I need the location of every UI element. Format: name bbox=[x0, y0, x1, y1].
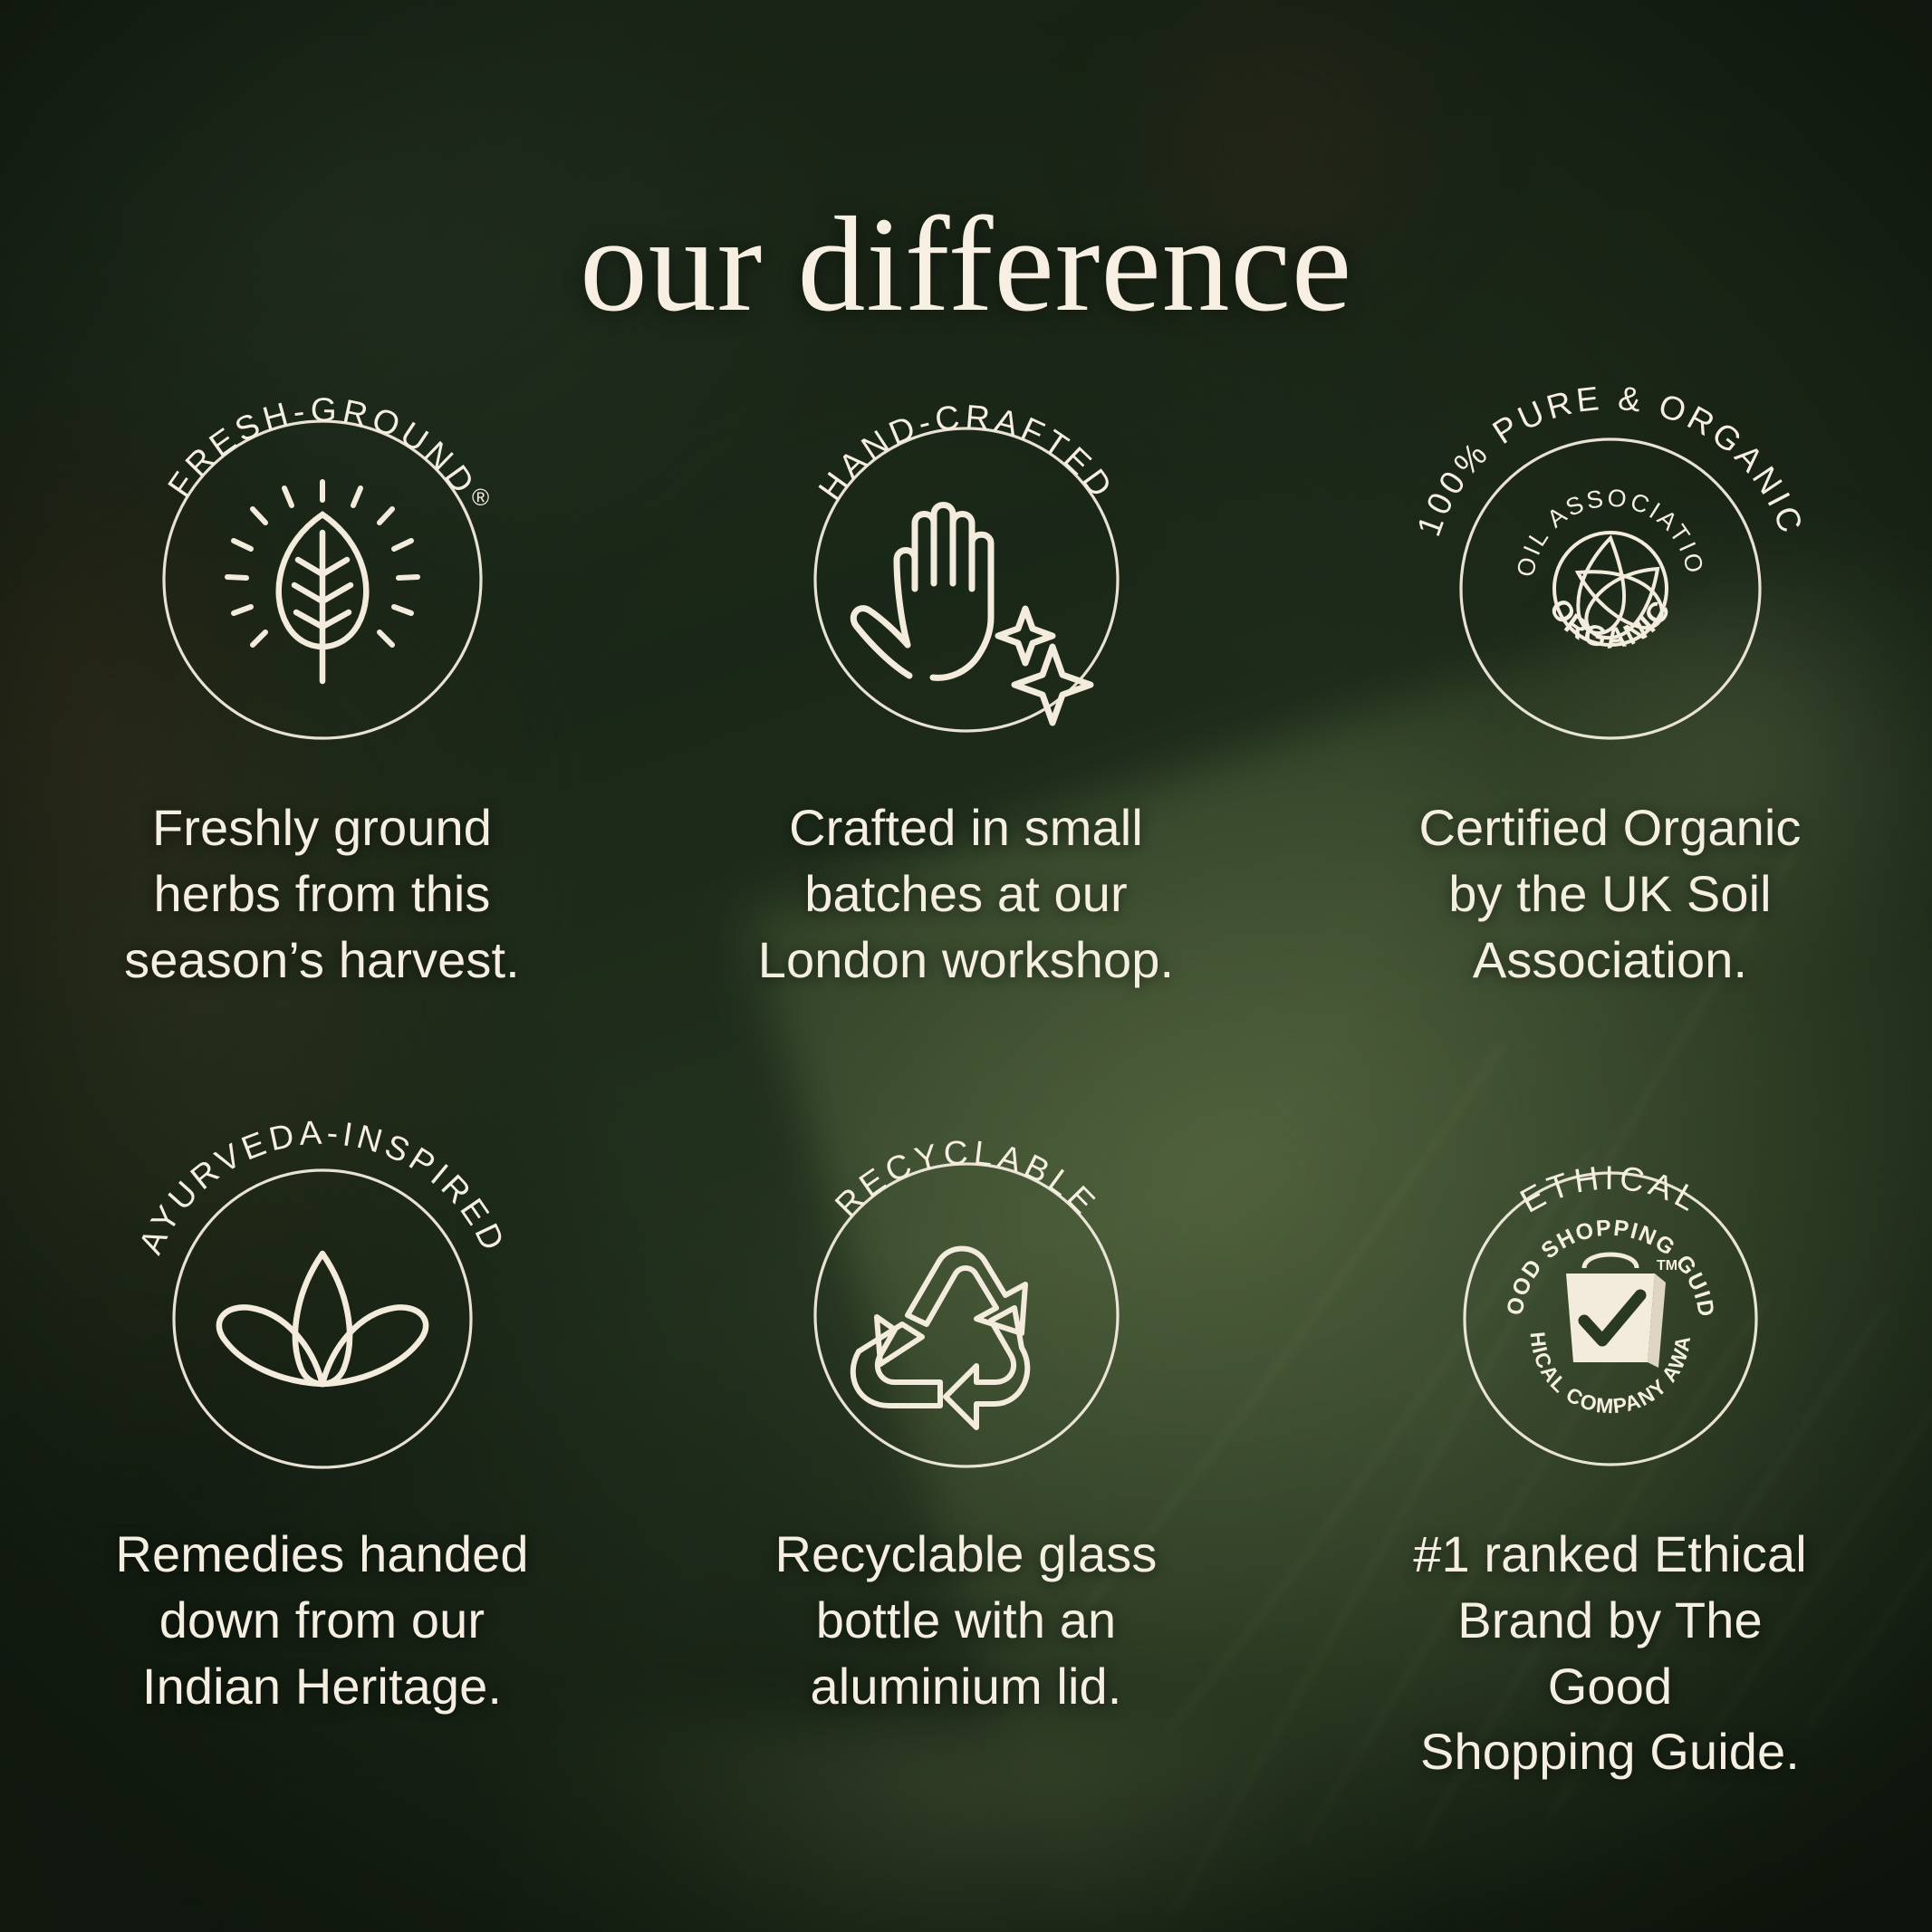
badge-recyclable: RECYCLABLE bbox=[754, 1078, 1179, 1495]
caption-line: Certified Organic bbox=[1398, 795, 1823, 861]
feature-row-top: FRESH-GROUND ® bbox=[0, 346, 1932, 993]
caption-line: Brand by The Good bbox=[1398, 1588, 1823, 1720]
caption-line: season’s harvest. bbox=[110, 928, 535, 994]
lotus-icon bbox=[218, 1254, 425, 1384]
badge-ethical: ETHICAL GOOD SHOPPING GUIDE ETHICAL COMP… bbox=[1398, 1078, 1823, 1495]
caption-line: batches at our bbox=[754, 861, 1179, 928]
registered-trademark-icon: ® bbox=[472, 484, 489, 511]
caption-line: bottle with an bbox=[754, 1588, 1179, 1654]
feature-fresh-ground: FRESH-GROUND ® bbox=[0, 346, 644, 993]
open-hand-sparkle-icon bbox=[853, 505, 1091, 724]
caption-line: #1 ranked Ethical bbox=[1398, 1522, 1823, 1588]
good-shopping-guide-icon: GOOD SHOPPING GUIDE ETHICAL COMPANY AWAR… bbox=[1388, 1058, 1719, 1418]
badge-ring bbox=[1461, 439, 1760, 738]
badge-hand-crafted: HAND-CRAFTED bbox=[754, 346, 1179, 763]
caption-line: Remedies handed bbox=[110, 1522, 535, 1588]
badge-ring-label: 100% PURE & ORGANIC bbox=[1409, 380, 1811, 541]
trademark-icon: TM bbox=[1657, 1258, 1677, 1274]
caption-line: Shopping Guide. bbox=[1398, 1719, 1823, 1785]
feature-ayurveda-inspired: AYURVEDA-INSPIRED Remedies handed down f… bbox=[0, 1078, 644, 1785]
badge-ring-label: AYURVEDA-INSPIRED bbox=[131, 1114, 513, 1260]
feature-caption: Freshly ground herbs from this season’s … bbox=[110, 795, 535, 993]
leaf-sunburst-icon bbox=[227, 482, 418, 681]
feature-pure-organic: 100% PURE & ORGANIC SOIL ASSOCIATION ORG… bbox=[1288, 346, 1932, 993]
badge-ring-label: RECYCLABLE bbox=[828, 1133, 1105, 1224]
recycling-arrows-icon bbox=[852, 1249, 1027, 1428]
caption-line: Recyclable glass bbox=[754, 1522, 1179, 1588]
feature-caption: Certified Organic by the UK Soil Associa… bbox=[1398, 795, 1823, 993]
badge-pure-organic: 100% PURE & ORGANIC SOIL ASSOCIATION ORG… bbox=[1398, 346, 1823, 763]
feature-recyclable: RECYCLABLE bbox=[644, 1078, 1288, 1785]
badge-ring-label: HAND-CRAFTED bbox=[811, 398, 1121, 506]
caption-line: down from our bbox=[110, 1588, 535, 1654]
caption-line: herbs from this bbox=[110, 861, 535, 928]
caption-line: aluminium lid. bbox=[754, 1654, 1179, 1720]
promo-panel: our difference FRESH-GROUND bbox=[0, 0, 1932, 1932]
feature-hand-crafted: HAND-CRAFTED Crafted in small bbox=[644, 346, 1288, 993]
caption-line: Indian Heritage. bbox=[110, 1654, 535, 1720]
caption-line: Freshly ground bbox=[110, 795, 535, 861]
feature-caption: Remedies handed down from our Indian Her… bbox=[110, 1522, 535, 1719]
caption-line: Association. bbox=[1398, 928, 1823, 994]
page-title: our difference bbox=[0, 197, 1932, 332]
feature-caption: Recyclable glass bottle with an aluminiu… bbox=[754, 1522, 1179, 1719]
feature-ethical: ETHICAL GOOD SHOPPING GUIDE ETHICAL COMP… bbox=[1288, 1078, 1932, 1785]
feature-caption: #1 ranked Ethical Brand by The Good Shop… bbox=[1398, 1522, 1823, 1785]
caption-line: Crafted in small bbox=[754, 795, 1179, 861]
caption-line: London workshop. bbox=[754, 928, 1179, 994]
badge-ayurveda-inspired: AYURVEDA-INSPIRED bbox=[110, 1078, 535, 1495]
caption-line: by the UK Soil bbox=[1398, 861, 1823, 928]
feature-caption: Crafted in small batches at our London w… bbox=[754, 795, 1179, 993]
badge-fresh-ground: FRESH-GROUND ® bbox=[110, 346, 535, 763]
feature-row-bottom: AYURVEDA-INSPIRED Remedies handed down f… bbox=[0, 1078, 1932, 1785]
